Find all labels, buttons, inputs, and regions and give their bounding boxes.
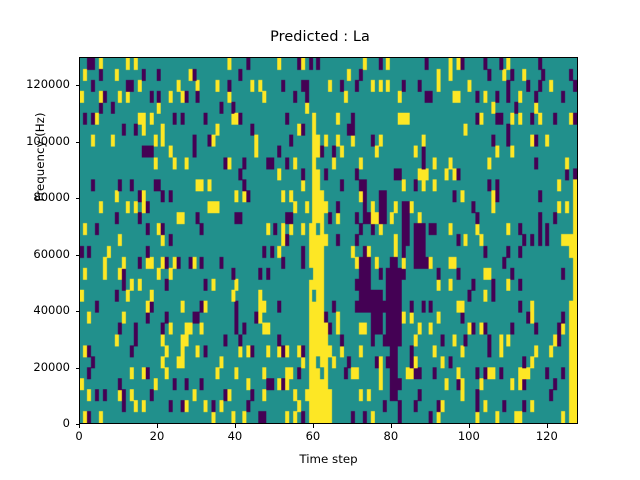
x-tick-mark [313,424,314,428]
x-tick-mark [547,424,548,428]
x-tick-mark [469,424,470,428]
x-tick-mark [391,424,392,428]
y-tick-label: 40000 [4,305,70,316]
y-tick-mark [76,311,80,312]
y-tick-mark [76,255,80,256]
y-tick-label: 20000 [4,362,70,373]
x-tick-label: 20 [127,429,187,443]
y-tick-mark [76,198,80,199]
x-tick-label: 80 [361,429,421,443]
x-tick-label: 0 [49,429,109,443]
axis-ticks: 0200004000060000800001000001200000204060… [0,0,640,480]
x-tick-label: 40 [205,429,265,443]
x-tick-label: 60 [283,429,343,443]
x-tick-mark [157,424,158,428]
x-tick-mark [235,424,236,428]
matplotlib-figure: Predicted : La 0200004000060000800001000… [0,0,640,480]
x-axis-label: Time step [79,452,578,466]
x-tick-label: 120 [517,429,577,443]
y-axis-label: Frequency (Hz) [33,32,47,282]
x-tick-label: 100 [439,429,499,443]
y-tick-mark [76,85,80,86]
y-tick-mark [76,368,80,369]
x-tick-mark [79,424,80,428]
y-tick-mark [76,142,80,143]
y-tick-label: 0 [4,418,70,429]
